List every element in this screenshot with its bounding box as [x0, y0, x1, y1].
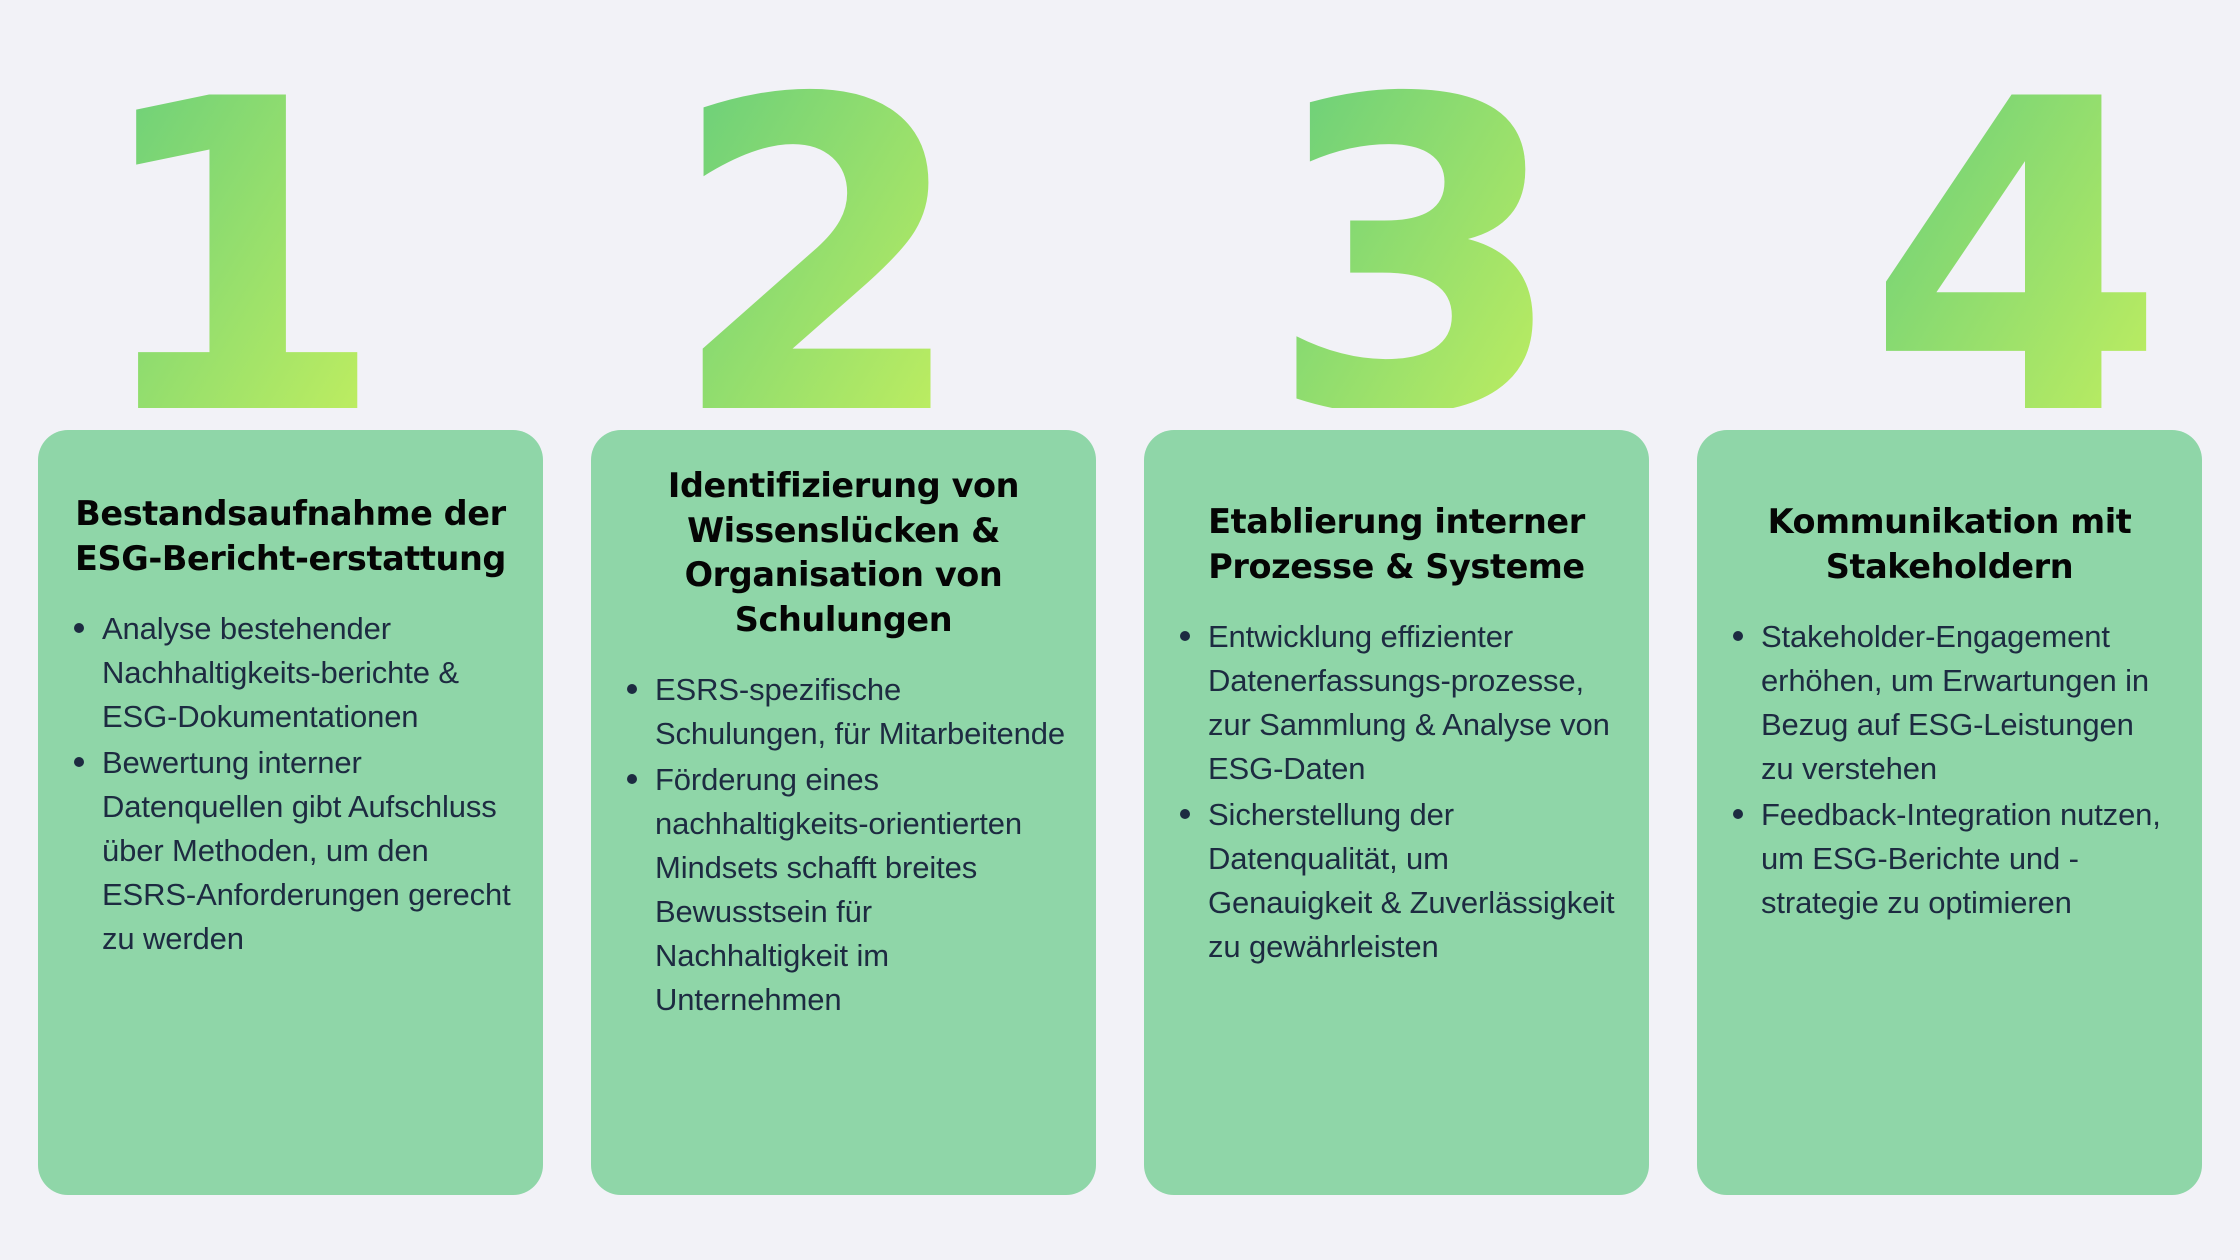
list-item: Sicherstellung der Datenqualität, um Gen…: [1204, 793, 1621, 969]
infographic-board: 1 Bestandsaufnahme der ESG-Bericht-ersta…: [0, 0, 2240, 1260]
step-card-4: 4 Kommunikation mit Stakeholdern Stakeho…: [1697, 0, 2202, 1260]
card-1: Bestandsaufnahme der ESG-Bericht-erstatt…: [38, 430, 543, 1195]
card-3: Etablierung interner Prozesse & Systeme …: [1144, 430, 1649, 1195]
numeral-1-icon: 1: [83, 8, 383, 408]
card-2: Identifizierung von Wissenslücken & Orga…: [591, 430, 1096, 1195]
list-item: Förderung eines nachhaltigkeits-orientie…: [651, 758, 1068, 1022]
card-2-bullet-list: ESRS-spezifische Schulungen, für Mitarbe…: [617, 668, 1070, 1024]
step-card-3: 3 Etablierung interner Prozesse & System…: [1144, 0, 1649, 1260]
step-number-3: 3: [1144, 0, 1649, 430]
card-4-title: Kommunikation mit Stakeholdern: [1723, 500, 2176, 589]
list-item: Feedback-Integration nutzen, um ESG-Beri…: [1757, 793, 2174, 925]
card-4-bullet-list: Stakeholder-Engagement erhöhen, um Erwar…: [1723, 615, 2176, 927]
step-card-2: 2 Identifizierung von Wissenslücken & Or…: [591, 0, 1096, 1260]
numeral-3-glyph: 3: [1267, 10, 1558, 408]
step-number-2: 2: [591, 0, 1096, 430]
numeral-2-glyph: 2: [668, 10, 959, 408]
card-1-title: Bestandsaufnahme der ESG-Bericht-erstatt…: [64, 492, 517, 581]
list-item: Bewertung interner Datenquellen gibt Auf…: [98, 741, 515, 961]
step-card-1: 1 Bestandsaufnahme der ESG-Bericht-ersta…: [38, 0, 543, 1260]
numeral-1-glyph: 1: [87, 10, 378, 408]
list-item: Analyse bestehender Nachhaltigkeits-beri…: [98, 607, 515, 739]
list-item: Stakeholder-Engagement erhöhen, um Erwar…: [1757, 615, 2174, 791]
list-item: ESRS-spezifische Schulungen, für Mitarbe…: [651, 668, 1068, 756]
step-number-1: 1: [38, 0, 543, 430]
card-4: Kommunikation mit Stakeholdern Stakehold…: [1697, 430, 2202, 1195]
numeral-4-icon: 4: [1862, 8, 2162, 408]
list-item: Entwicklung effizienter Datenerfassungs-…: [1204, 615, 1621, 791]
card-2-title: Identifizierung von Wissenslücken & Orga…: [617, 464, 1070, 642]
card-3-title: Etablierung interner Prozesse & Systeme: [1170, 500, 1623, 589]
step-number-4: 4: [1697, 0, 2202, 430]
numeral-3-icon: 3: [1263, 8, 1563, 408]
numeral-2-icon: 2: [664, 8, 964, 408]
numeral-4-glyph: 4: [1866, 10, 2157, 408]
card-3-bullet-list: Entwicklung effizienter Datenerfassungs-…: [1170, 615, 1623, 971]
card-1-bullet-list: Analyse bestehender Nachhaltigkeits-beri…: [64, 607, 517, 963]
